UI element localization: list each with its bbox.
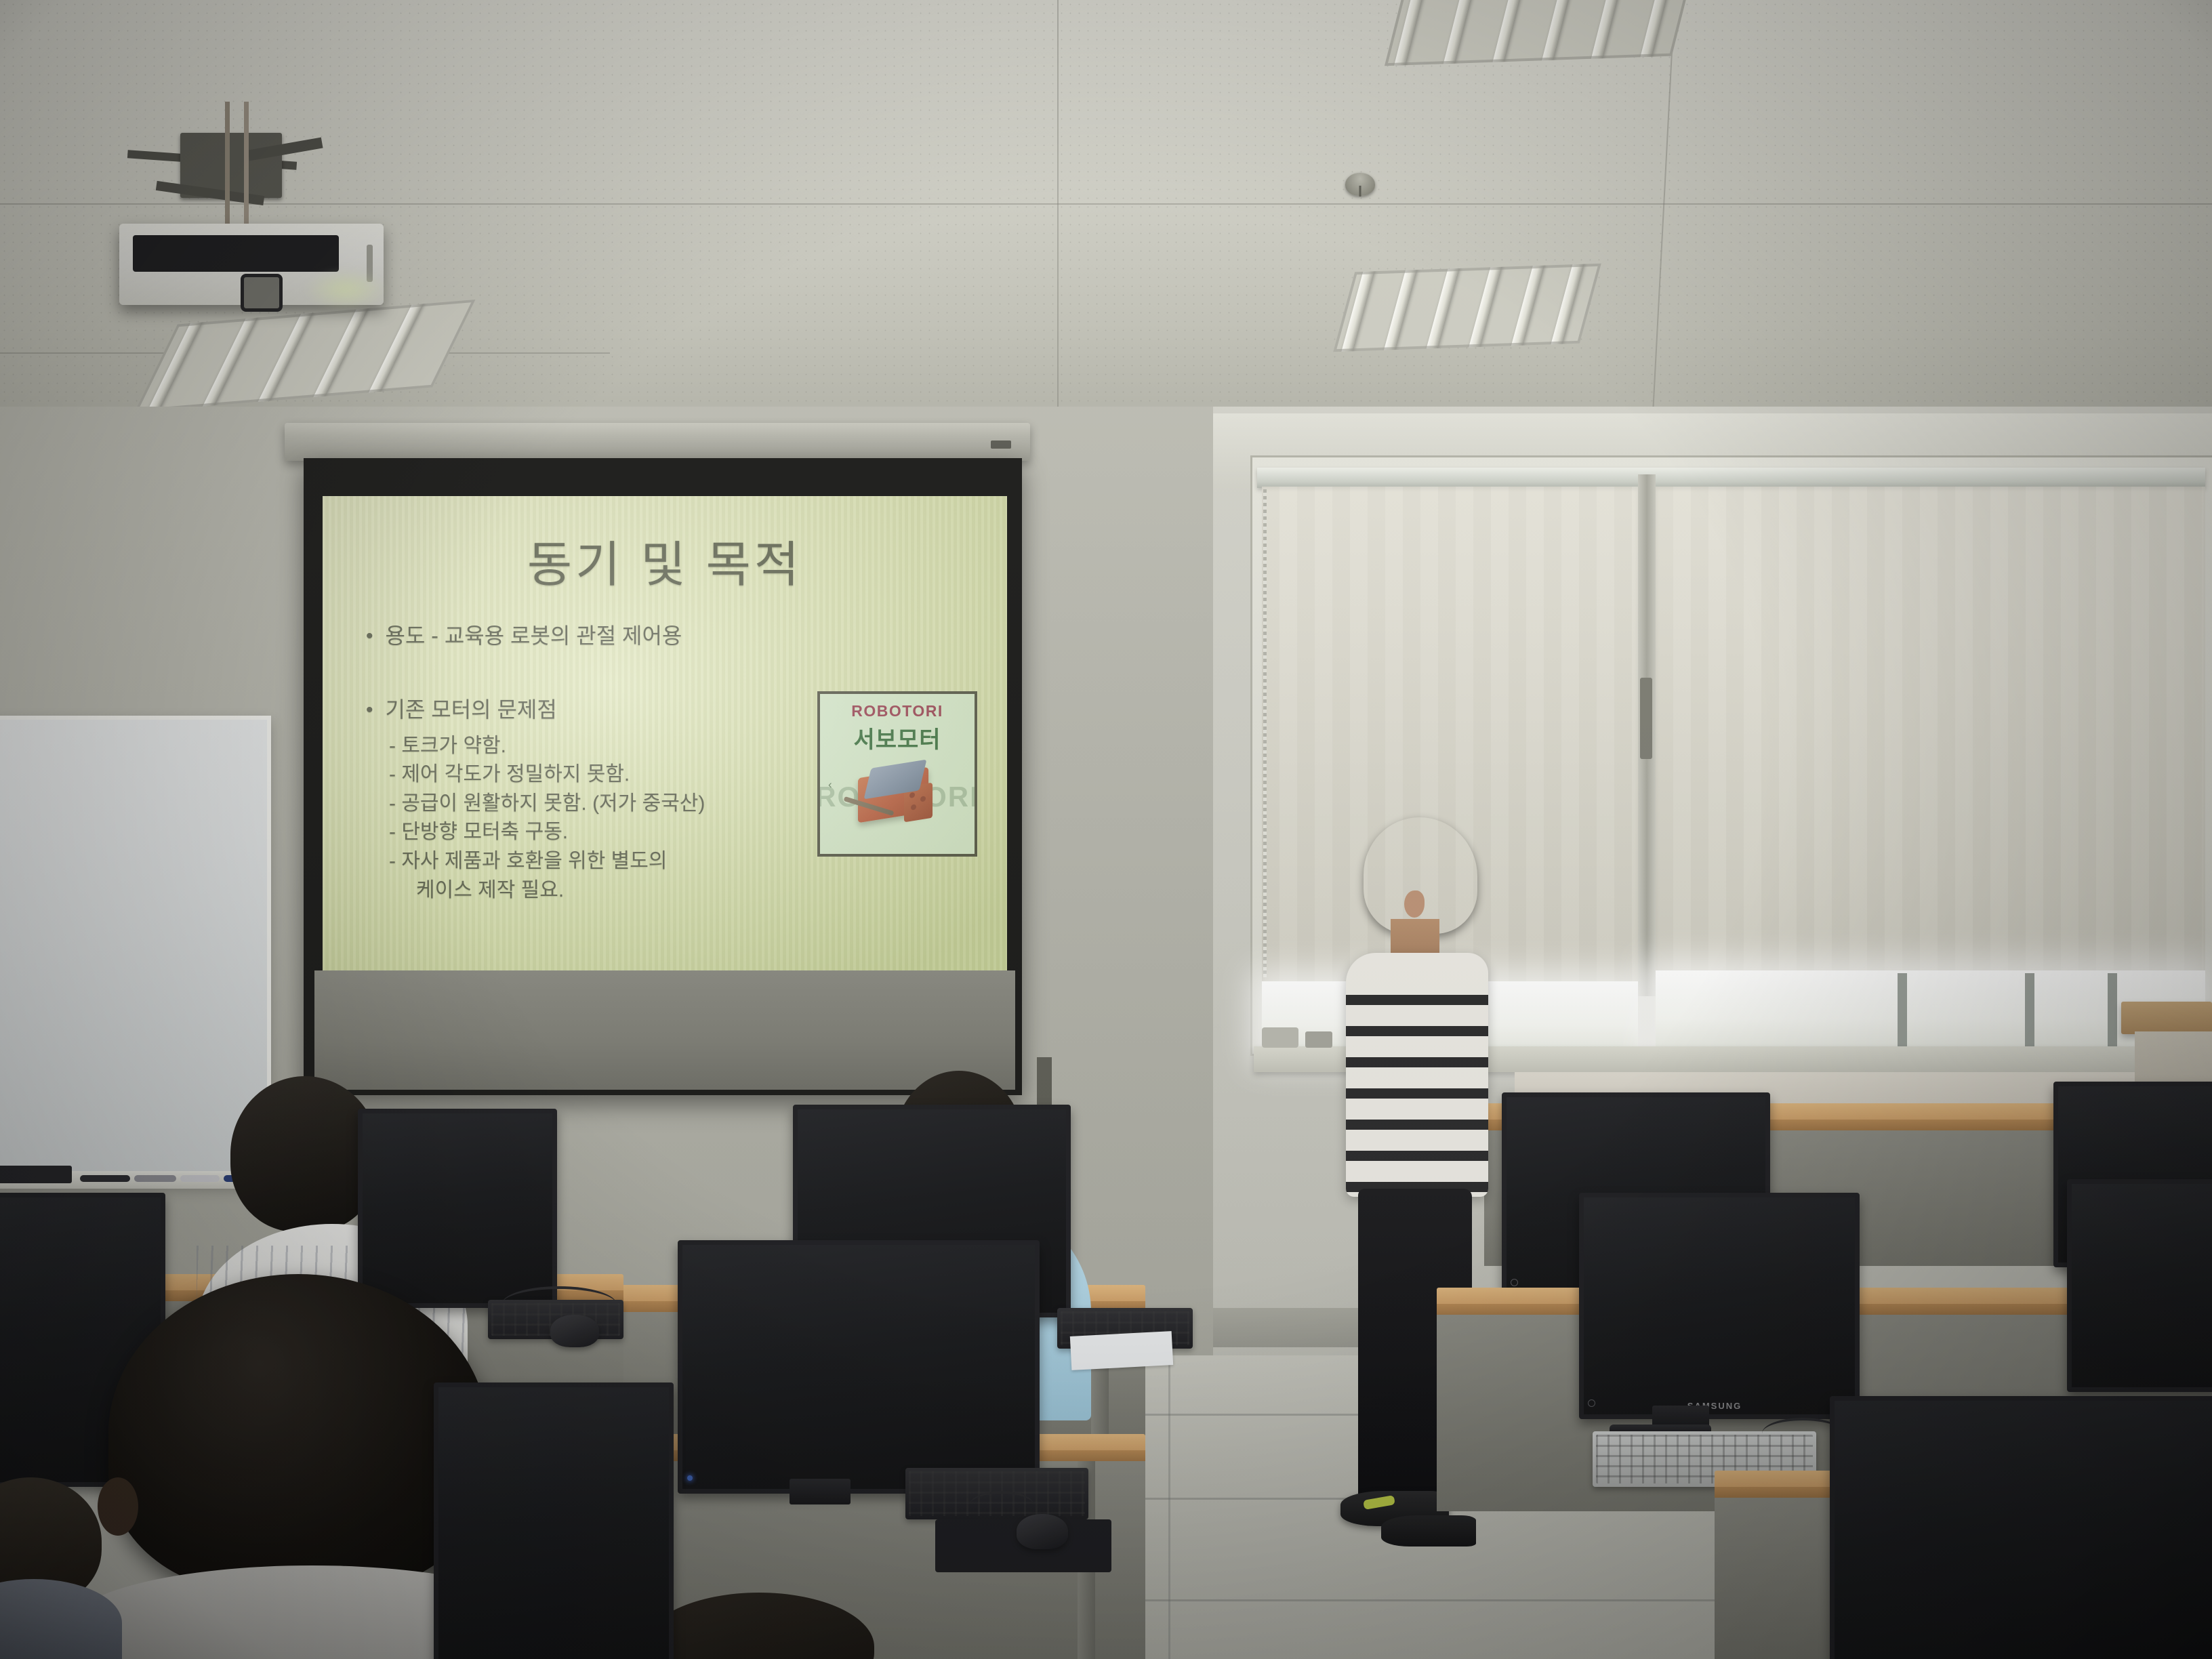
slide-subbullet-2: - 제어 각도가 정밀하지 못함.: [389, 760, 881, 790]
slide-subbullet-1: - 토크가 약함.: [389, 732, 881, 761]
whiteboard-eraser[interactable]: [0, 1166, 72, 1183]
bullet-marker: •: [366, 623, 373, 647]
ceiling-projector: [119, 224, 384, 305]
slide-bullet-2: • 기존 모터의 문제점: [366, 697, 881, 722]
slide-bullet-1: • 용도 - 교육용 로봇의 관절 제어용: [366, 623, 881, 649]
bullet-spacer: [366, 658, 881, 697]
robotori-product-text: 서보모터: [820, 721, 975, 754]
blind-chain[interactable]: [1263, 489, 1267, 977]
window-divider: [2108, 973, 2117, 1049]
ceiling-light-fixture: [1333, 264, 1601, 352]
window-divider: [2025, 973, 2034, 1049]
student-center-bottom: [644, 1593, 888, 1659]
blind-headrail[interactable]: [1257, 468, 2205, 488]
monitor-power-button[interactable]: [1588, 1399, 1595, 1407]
bullet-marker: •: [366, 697, 373, 720]
servo-motor-image: [853, 752, 942, 832]
motor-screw-hole: [909, 792, 915, 798]
bullet-text: 용도 - 교육용 로봇의 관절 제어용: [386, 623, 682, 649]
screen-pull-tab[interactable]: [991, 441, 1011, 449]
sill-object: [1305, 1031, 1332, 1048]
classroom-photo: 동기 및 목적 • 용도 - 교육용 로봇의 관절 제어용 • 기존 모터의 문…: [0, 0, 2212, 1659]
whiteboard-marker[interactable]: [134, 1175, 176, 1182]
monitor-screen: [1579, 1193, 1860, 1419]
monitor-screen: [678, 1240, 1040, 1494]
paper-sheet: [1070, 1331, 1173, 1370]
mouse[interactable]: [550, 1315, 599, 1347]
slide-subbullet-4: - 단방향 모터축 구동.: [389, 818, 881, 847]
projector-lens: [241, 274, 283, 312]
slide-surface: 동기 및 목적 • 용도 - 교육용 로봇의 관절 제어용 • 기존 모터의 문…: [323, 496, 1007, 970]
fixture-frame: [1333, 264, 1601, 352]
slide-subbullet-6: 케이스 제작 필요.: [416, 876, 881, 905]
student-center-bottom-head: [644, 1593, 874, 1659]
slide-title: 동기 및 목적: [323, 525, 1007, 596]
monitor-screen: [1830, 1396, 2212, 1659]
whiteboard-marker[interactable]: [80, 1175, 130, 1182]
monitor-stand: [790, 1479, 851, 1504]
projection-screen: 동기 및 목적 • 용도 - 교육용 로봇의 관절 제어용 • 기존 모터의 문…: [304, 458, 1022, 1095]
floor-tile-line: [1168, 1355, 1170, 1659]
mouse[interactable]: [1017, 1514, 1068, 1549]
robotori-brand-text: ROBOTORI: [820, 702, 975, 720]
presenter-hair: [1364, 817, 1477, 934]
monitor-mid-right-1: SAMSUNG: [1579, 1193, 1850, 1410]
monitor-front-right: [1830, 1396, 2212, 1659]
monitor-left-back: [358, 1109, 548, 1298]
sprinkler-head: [1345, 173, 1375, 196]
sill-object: [1262, 1027, 1298, 1048]
bullet-text: 기존 모터의 문제점: [386, 697, 557, 722]
presenter-shoe-right: [1381, 1515, 1476, 1547]
whiteboard-marker[interactable]: [180, 1175, 220, 1182]
monitor-mid-right-2: [2067, 1179, 2212, 1382]
student-front-left-head: [230, 1076, 380, 1232]
student-bottom-left-shoulders: [0, 1579, 122, 1659]
lectern-top: [2121, 1002, 2212, 1034]
screen-roller-housing[interactable]: [285, 423, 1030, 461]
monitor-screen: [434, 1382, 674, 1659]
roller-blind-right[interactable]: [1656, 487, 2205, 975]
ceiling-light-fixture: [1385, 0, 1692, 66]
window-handle[interactable]: [1640, 678, 1652, 759]
fixture-frame: [1385, 0, 1692, 66]
motor-screw-hole: [911, 804, 916, 810]
slide-subbullet-3: - 공급이 원활하지 못함. (저가 중국산): [389, 790, 881, 819]
student-foreground-head: [108, 1274, 488, 1593]
monitor-screen: [2067, 1179, 2212, 1392]
mouse-cable: [969, 1491, 1034, 1521]
presenter-striped-shirt: [1346, 953, 1488, 1197]
student-bottom-left: [0, 1477, 122, 1659]
presenter-ear: [1404, 890, 1425, 918]
slide-bullet-list: • 용도 - 교육용 로봇의 관절 제어용 • 기존 모터의 문제점 - 토크가…: [366, 623, 881, 905]
monitor-power-led: [687, 1475, 693, 1481]
ceiling-seam: [1057, 0, 1059, 447]
slide-subbullet-5: - 자사 제품과 호환을 위한 별도의: [389, 847, 881, 876]
window-divider: [1898, 973, 1907, 1049]
motor-screw-hole: [920, 796, 926, 802]
monitor-bottom-center: [434, 1382, 664, 1659]
projector-front-panel: [133, 235, 339, 272]
robotori-tick-mark: ‹: [828, 778, 832, 792]
projector-mount-bracket: [115, 108, 332, 224]
projector-light-glow: [305, 270, 386, 309]
monitor-center-front: [678, 1240, 1030, 1484]
robotori-product-card: ROBOTORI 서보모터 ROBOTORI ‹: [817, 691, 977, 857]
